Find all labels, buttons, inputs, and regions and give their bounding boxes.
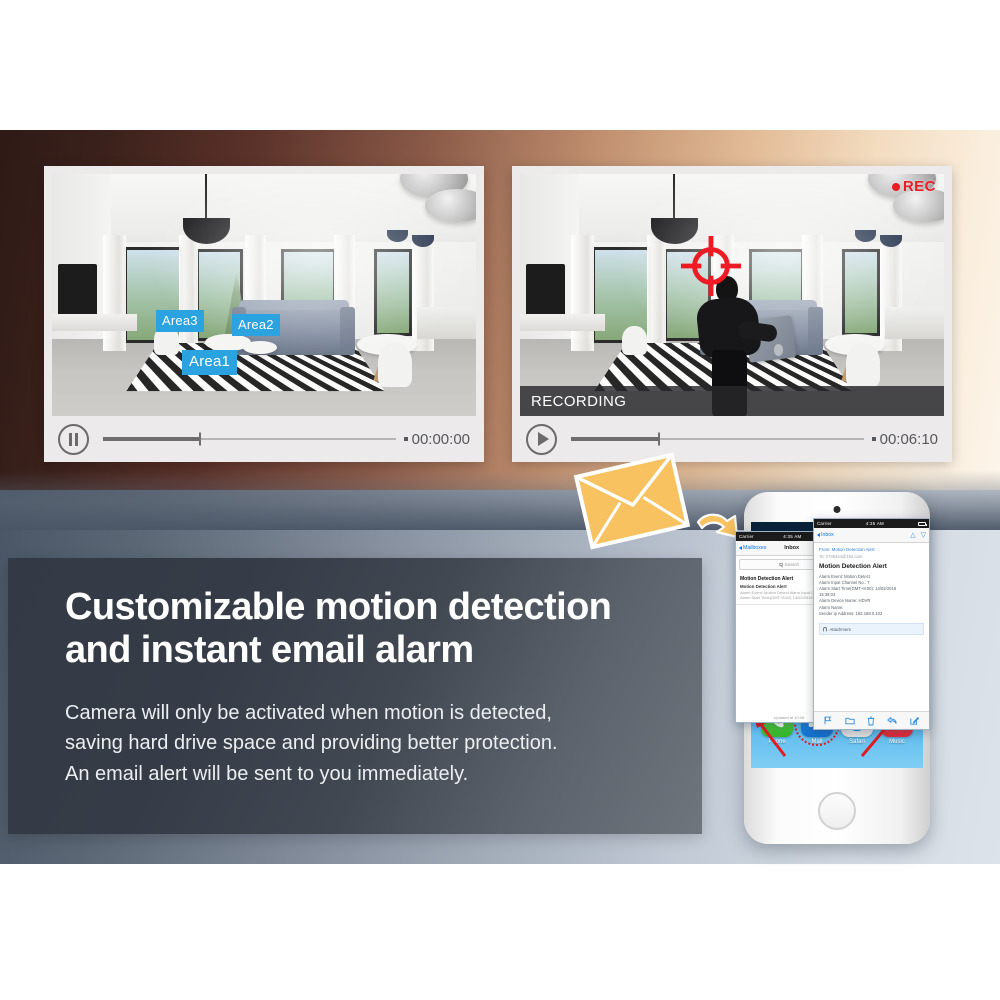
search-icon [779,563,783,567]
progress-fill [103,437,200,441]
intruder-hand [774,344,783,355]
video-screen-right: REC RECORDING [520,174,944,416]
background-top-white [0,0,1000,131]
window-4 [842,249,880,336]
subcopy: Camera will only be activated when motio… [65,698,680,789]
curtain-2 [647,235,666,351]
time-marker-icon [404,437,408,441]
compose-icon[interactable] [910,716,919,725]
subcopy-line-1: Camera will only be activated when motio… [65,698,680,728]
dining-area [417,307,476,338]
time-marker-icon [872,437,876,441]
recording-label: RECORDING [520,393,626,410]
status-carrier: Carrier [817,521,832,526]
side-counter [52,314,137,331]
back-to-mailboxes-button[interactable]: Mailboxes [739,545,766,551]
status-battery-wrap [918,522,926,526]
back-label: Inbox [821,532,834,538]
pendant-lamp-small-2 [412,235,433,247]
status-carrier: Carrier [739,534,754,539]
status-time: 4:35 AM [783,534,801,539]
progress-fill [571,437,659,441]
progress-slider-right[interactable] [571,433,864,445]
subcopy-line-2: saving hard drive space and providing be… [65,728,680,758]
wall-tv [526,264,564,317]
sofa-arm-right [808,307,822,355]
chevron-left-icon [817,533,820,537]
home-button[interactable] [818,792,856,830]
pendant-lamp-small-2 [880,235,901,247]
player-controls-left: 00:00:00 [44,416,484,462]
chevron-up-icon[interactable]: △ [910,532,915,539]
attachment-label: Attachment [830,627,851,632]
progress-handle[interactable] [658,433,660,446]
inbox-title: Inbox [784,545,799,551]
battery-icon [918,522,926,526]
dining-area [885,307,944,338]
mail-attachment[interactable]: Attachment [819,623,924,635]
search-placeholder: Search [785,562,800,567]
timestamp-left-wrap: 00:00:00 [404,431,474,448]
area-badge-2[interactable]: Area2 [232,314,280,336]
armchair-1 [846,343,880,387]
curtain-1 [103,235,126,351]
play-button[interactable] [526,424,557,455]
crosshair-target-icon [680,235,742,297]
timestamp-left: 00:00:00 [412,431,470,448]
paperclip-icon [823,627,827,632]
mail-subject: Motion Detection Alert [819,563,924,570]
flag-icon[interactable] [824,716,832,725]
back-to-inbox-button[interactable]: Inbox [817,532,834,538]
background-bottom-white [0,864,1000,1000]
area-badge-1[interactable]: Area1 [182,350,237,375]
headline-line-2: and instant email alarm [65,629,685,672]
pause-button[interactable] [58,424,89,455]
mail-detail-window[interactable]: Carrier 4:35 AM Inbox △ ▽ From: Motion D… [813,518,930,730]
message-nav-arrows[interactable]: △ ▽ [910,532,926,539]
mail-to: To: 2735444@163.com [819,554,924,559]
trash-icon[interactable] [867,716,875,726]
video-screen-left: Area3 Area2 Area1 [52,174,476,416]
sofa-arm-right [340,307,354,355]
status-time: 4:35 AM [866,521,884,526]
living-room-scene [52,174,476,416]
player-controls-right: 00:06:10 [512,416,952,462]
chevron-down-icon[interactable]: ▽ [921,532,926,539]
video-player-left[interactable]: Area3 Area2 Area1 00:00:00 [44,166,484,462]
back-label: Mailboxes [743,545,766,551]
recording-banner: RECORDING [520,386,944,416]
rec-dot-icon [892,183,900,191]
progress-handle[interactable] [199,433,201,446]
promo-stage: Area3 Area2 Area1 00:00:00 [0,0,1000,1000]
area-badge-3[interactable]: Area3 [156,310,204,332]
mail-detail-body: From: Motion Detection Alert To: 2735444… [814,543,929,635]
play-icon [538,432,549,446]
folder-icon[interactable] [845,716,855,725]
headline-line-1: Customizable motion detection [65,586,685,629]
reply-icon[interactable] [887,716,897,725]
curtain-1 [571,235,594,351]
detail-navbar: Inbox △ ▽ [814,528,929,543]
window-4 [374,249,412,336]
rec-label: REC [903,178,936,195]
pendant-cord [205,174,207,222]
pause-icon [69,433,78,446]
mail-from: From: Motion Detection Alert [819,547,924,552]
living-room-scene-right [520,174,944,416]
video-player-right[interactable]: REC RECORDING 00:06:10 [512,166,952,462]
progress-slider-left[interactable] [103,433,396,445]
curtain-2 [179,235,198,351]
coffee-table-2 [243,341,277,354]
dock-label-mail: Mail [801,739,833,745]
headline: Customizable motion detection and instan… [65,586,685,671]
armchair-1 [378,343,412,387]
mail-detail-toolbar [814,711,929,729]
chevron-left-icon [739,546,742,550]
ios-status-bar-detail: Carrier 4:35 AM [814,519,929,528]
timestamp-right: 00:06:10 [880,431,938,448]
timestamp-right-wrap: 00:06:10 [872,431,942,448]
subcopy-line-3: An email alert will be sent to you immed… [65,759,680,789]
side-counter [520,314,605,331]
pendant-cord [673,174,675,222]
message-panel: Customizable motion detection and instan… [8,558,702,834]
wall-tv [58,264,96,317]
rec-indicator: REC [892,178,936,195]
armchair-2 [622,326,647,355]
front-camera-icon [834,506,841,513]
mail-body-line: Sender ip Address: 192.168.0.102 [819,611,924,617]
